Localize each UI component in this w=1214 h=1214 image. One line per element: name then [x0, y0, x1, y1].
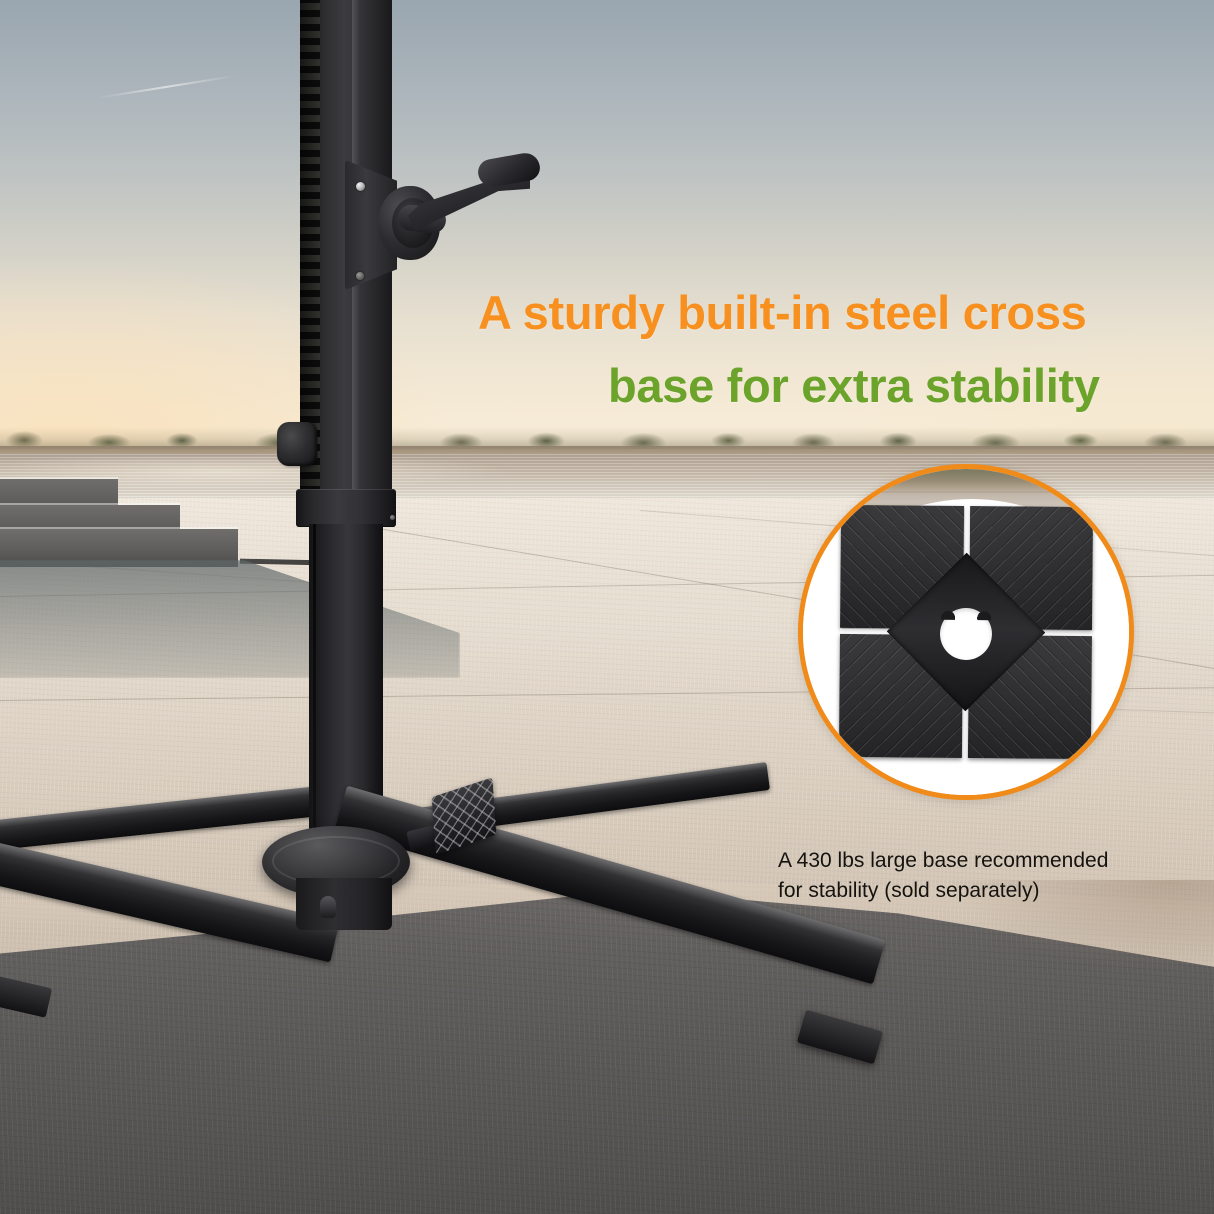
hub-collar — [296, 878, 392, 930]
screw-icon — [356, 182, 365, 191]
collar-screw-icon — [390, 515, 395, 520]
headline-line-2: base for extra stability — [608, 358, 1100, 413]
inset-background-treeline — [803, 469, 1129, 493]
hub-latch[interactable] — [320, 896, 336, 918]
headline-line-1: A sturdy built-in steel cross — [478, 285, 1087, 340]
pole-hole-notches — [940, 608, 992, 620]
pole-joint-collar — [296, 489, 396, 527]
product-feature-image: A sturdy built-in steel cross base for e… — [0, 0, 1214, 1214]
base-plate-assembly — [839, 505, 1093, 759]
pole-seam — [313, 524, 316, 854]
base-plate-inset-circle — [798, 464, 1134, 800]
screw-icon — [356, 272, 364, 280]
foreground-warm-light — [794, 880, 1214, 1100]
pole-adjustment-knob[interactable] — [277, 422, 317, 466]
inset-caption: A 430 lbs large base recommended for sta… — [778, 846, 1178, 906]
